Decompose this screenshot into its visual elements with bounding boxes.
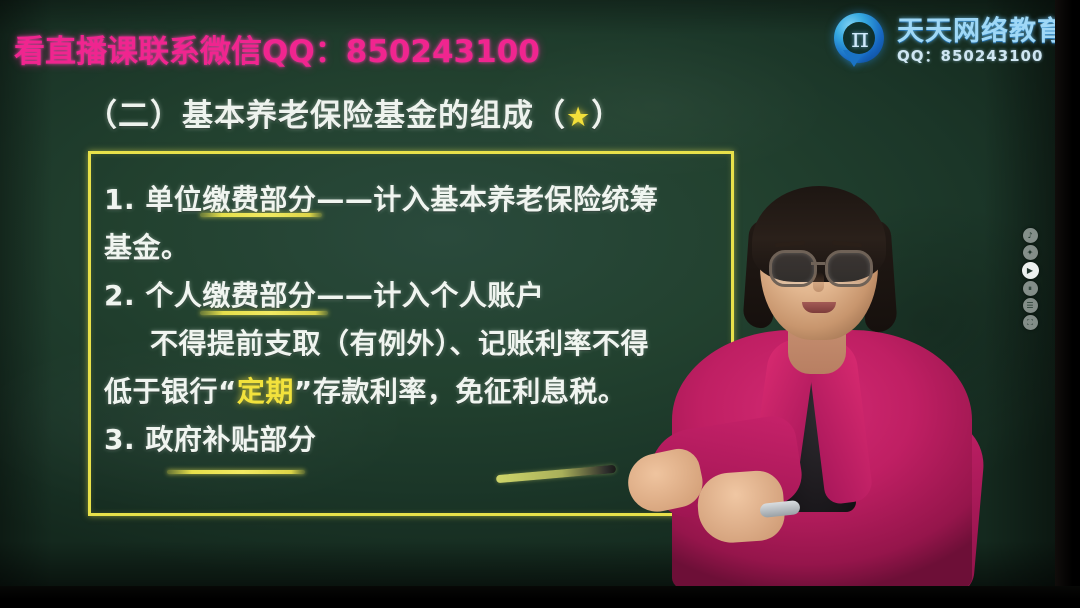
content-line-4: 不得提前支取（有例外）、记账利率不得 — [104, 322, 744, 370]
headline-suffix: ） — [591, 98, 623, 134]
logo-mark-icon: ᴨ — [832, 12, 890, 70]
logo-qq-text: QQ：850243100 — [897, 49, 1065, 64]
underline-annotation-1 — [200, 213, 322, 217]
content-line-5-highlight: 定期 — [237, 375, 294, 408]
player-control-strip[interactable]: ♪ ✦ ▶ ⏸ ☰ ⛶ — [1020, 228, 1040, 330]
content-line-2: 基金。 — [104, 226, 744, 274]
content-line-5-post: ”存款利率，免征利息税。 — [294, 375, 626, 408]
content-line-5: 低于银行“定期”存款利率，免征利息税。 — [104, 370, 744, 418]
control-settings-icon[interactable]: ✦ — [1023, 245, 1038, 260]
control-list-icon[interactable]: ☰ — [1023, 298, 1038, 313]
content-line-3: 2. 个人缴费部分——计入个人账户 — [104, 274, 744, 322]
headline-prefix: （二）基本养老保险基金的组成（ — [86, 98, 566, 134]
control-fullscreen-icon[interactable]: ⛶ — [1023, 315, 1038, 330]
slide-headline: （二）基本养老保险基金的组成（★） — [86, 90, 623, 135]
control-pause-icon[interactable]: ⏸ — [1023, 281, 1038, 296]
content-line-6: 3. 政府补贴部分 — [104, 418, 744, 466]
content-line-5-pre: 低于银行“ — [104, 375, 237, 408]
video-player-screenshot: 看直播课联系微信QQ：850243100 ᴨ 天天网络教育 QQ：8502431… — [0, 0, 1080, 608]
letterbox-bar-bottom — [0, 586, 1080, 608]
slide-content-lines: 1. 单位缴费部分——计入基本养老保险统筹 基金。 2. 个人缴费部分——计入个… — [104, 178, 744, 466]
control-play-icon[interactable]: ▶ — [1022, 262, 1039, 279]
logo-brand-name: 天天网络教育 — [897, 18, 1065, 45]
content-line-1: 1. 单位缴费部分——计入基本养老保险统筹 — [104, 178, 744, 226]
promo-banner-text: 看直播课联系微信QQ：850243100 — [14, 26, 540, 71]
star-icon: ★ — [566, 102, 591, 133]
underline-annotation-3 — [167, 470, 305, 474]
brand-logo: ᴨ 天天网络教育 QQ：850243100 — [832, 8, 1070, 74]
control-volume-icon[interactable]: ♪ — [1023, 228, 1038, 243]
letterbox-bar-right — [1055, 0, 1080, 608]
underline-annotation-2 — [200, 311, 328, 315]
logo-glyph: ᴨ — [845, 24, 875, 54]
